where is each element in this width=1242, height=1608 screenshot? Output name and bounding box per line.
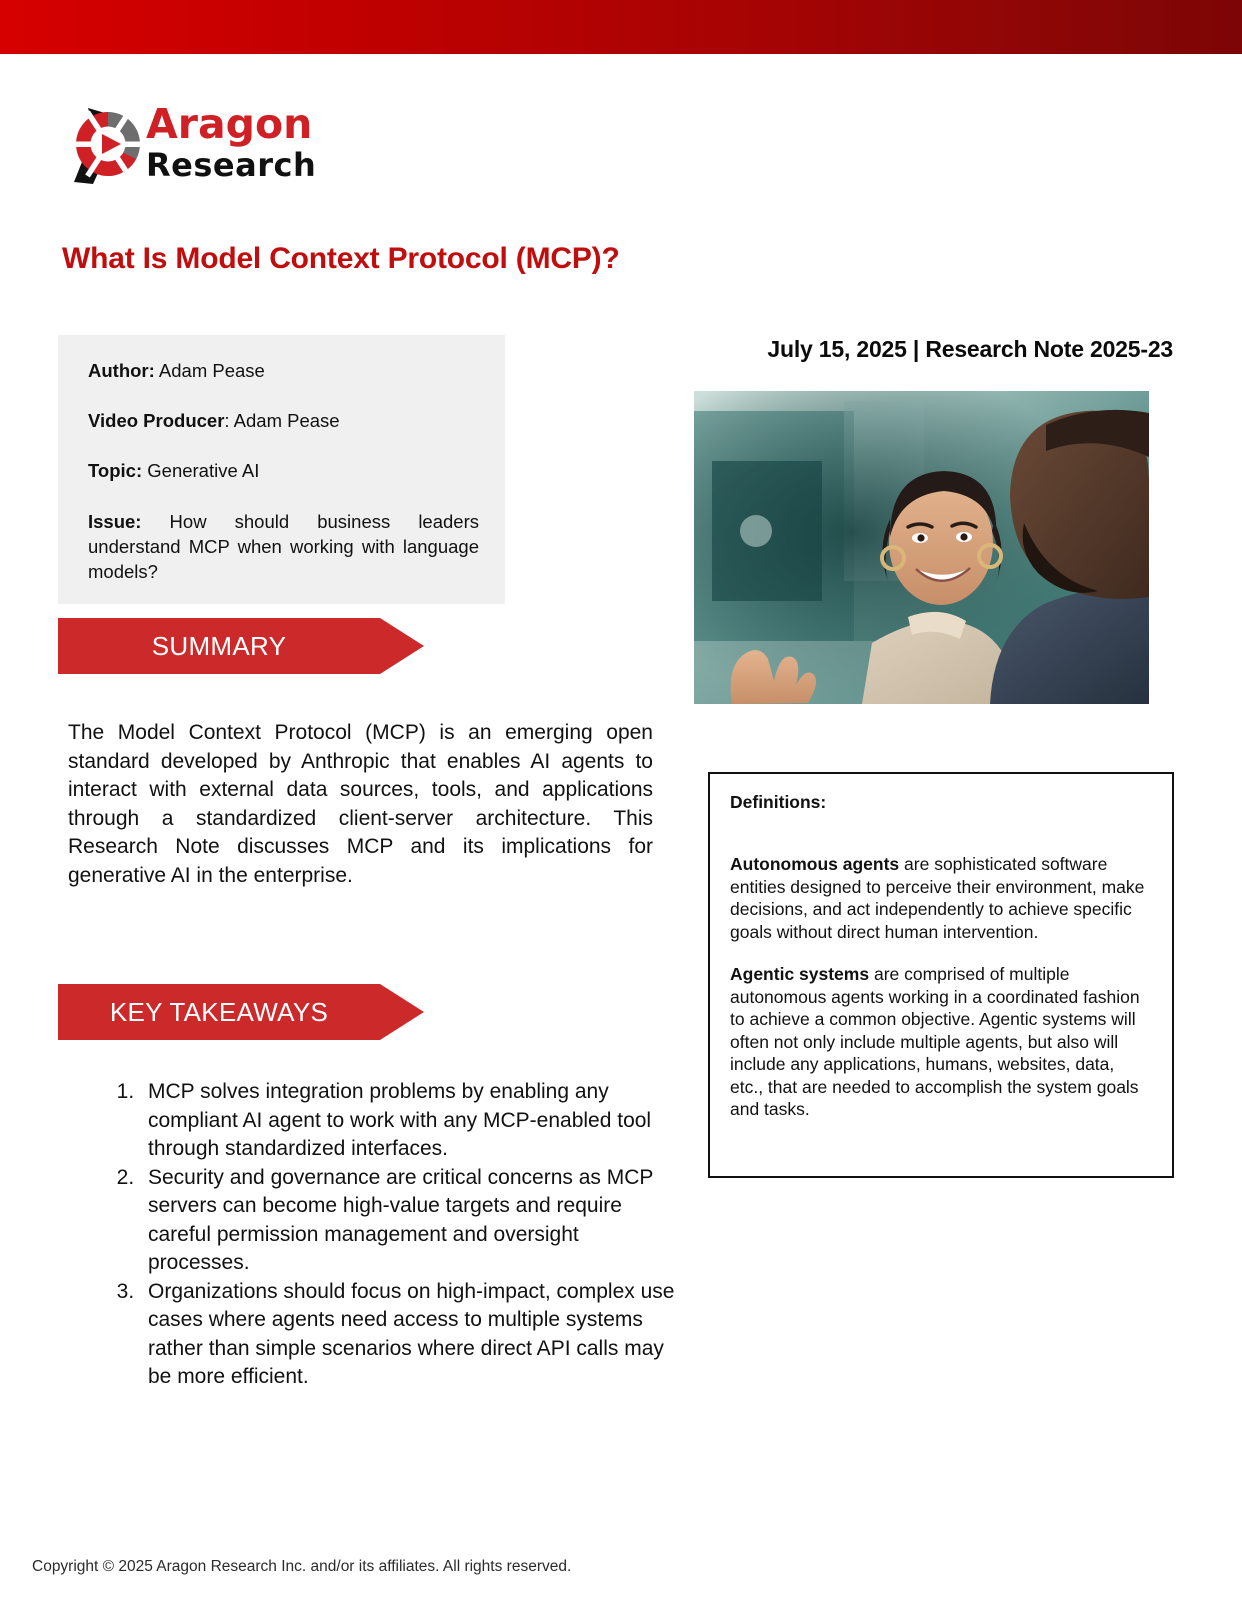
meta-issue: Issue: How should business leaders under… [88, 509, 479, 584]
document-meta-box: Author: Adam Pease Video Producer: Adam … [58, 335, 505, 604]
definition-text: are comprised of multiple autonomous age… [730, 964, 1140, 1119]
aragon-research-logo: Aragon Research [66, 100, 326, 192]
definition-autonomous-agents: Autonomous agents are sophisticated soft… [730, 853, 1150, 943]
meta-video-producer: Video Producer: Adam Pease [88, 409, 479, 433]
key-takeaways-list: MCP solves integration problems by enabl… [86, 1078, 680, 1392]
top-red-banner [0, 0, 1242, 54]
meta-issue-label: Issue: [88, 511, 141, 532]
list-item: Organizations should focus on high-impac… [140, 1278, 680, 1392]
meta-author-label: Author: [88, 360, 155, 381]
meta-topic-label: Topic: [88, 460, 142, 481]
aragon-play-donut-icon [66, 102, 150, 190]
meta-topic: Topic: Generative AI [88, 459, 479, 483]
key-takeaways-banner-label: KEY TAKEAWAYS [58, 997, 424, 1028]
page-title: What Is Model Context Protocol (MCP)? [62, 242, 620, 276]
footer-copyright: Copyright © 2025 Aragon Research Inc. an… [32, 1558, 571, 1576]
date-research-note: July 15, 2025 | Research Note 2025-23 [728, 336, 1173, 363]
definition-term: Agentic systems [730, 964, 869, 984]
list-item: Security and governance are critical con… [140, 1164, 680, 1278]
key-takeaways-section-banner: KEY TAKEAWAYS [58, 984, 424, 1040]
summary-body-text: The Model Context Protocol (MCP) is an e… [68, 719, 653, 890]
business-conversation-photo [694, 391, 1149, 704]
summary-section-banner: SUMMARY [58, 618, 424, 674]
logo-wordmark-primary: Aragon [146, 103, 326, 145]
meta-topic-value: Generative AI [147, 460, 259, 481]
definitions-box: Definitions: Autonomous agents are sophi… [708, 772, 1174, 1178]
meta-author: Author: Adam Pease [88, 359, 479, 383]
logo-wordmark-secondary: Research [146, 147, 326, 183]
definition-term: Autonomous agents [730, 854, 899, 874]
meta-video-producer-label: Video Producer [88, 410, 224, 431]
meta-author-value: Adam Pease [159, 360, 265, 381]
list-item: MCP solves integration problems by enabl… [140, 1078, 680, 1164]
summary-banner-label: SUMMARY [58, 631, 424, 662]
definitions-title: Definitions: [730, 792, 1150, 813]
meta-video-producer-value: : Adam Pease [224, 410, 339, 431]
definition-agentic-systems: Agentic systems are comprised of multipl… [730, 963, 1150, 1121]
meta-issue-value: How should business leaders understand M… [88, 511, 479, 582]
